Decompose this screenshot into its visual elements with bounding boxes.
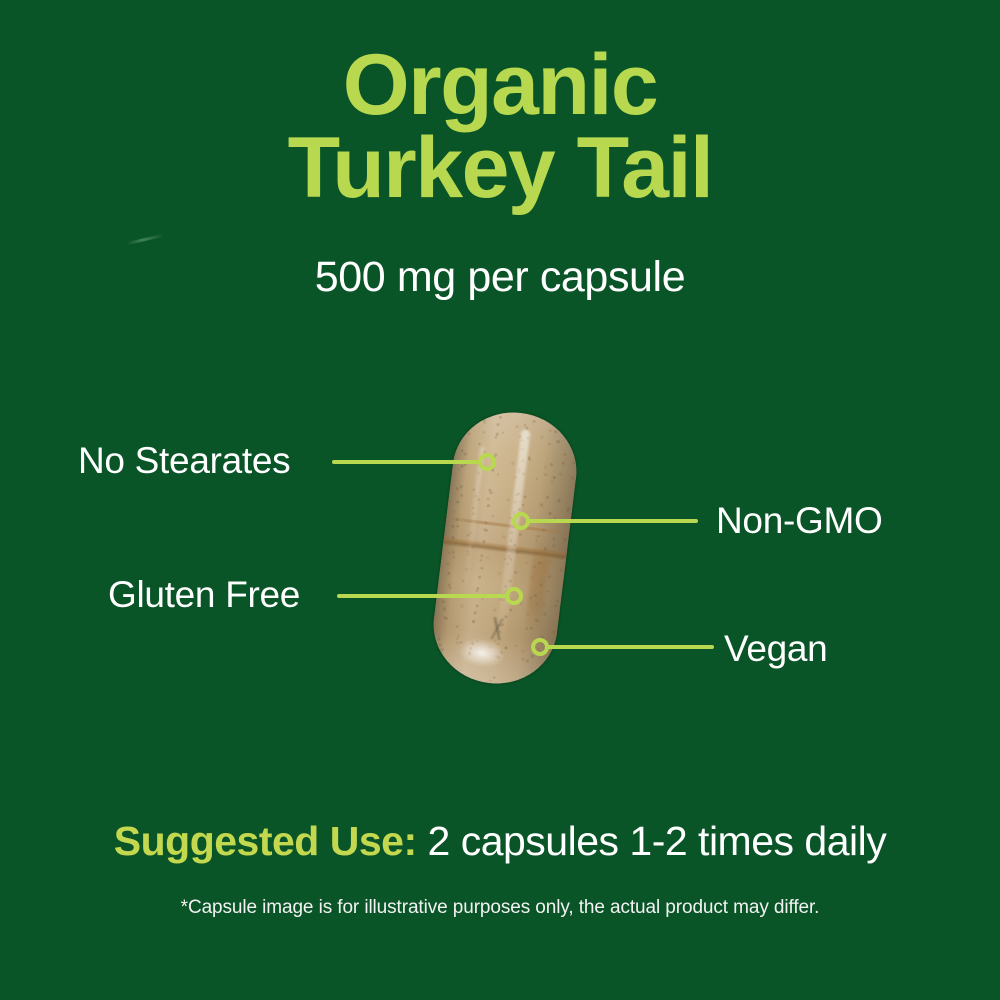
callout-label-vegan: Vegan xyxy=(724,628,827,670)
callout-leader-no-stearates xyxy=(332,460,482,464)
callout-label-non-gmo: Non-GMO xyxy=(716,500,882,542)
disclaimer-text: *Capsule image is for illustrative purpo… xyxy=(0,897,1000,919)
suggested-use-label: Suggested Use: xyxy=(114,818,417,864)
callout-leader-gluten-free xyxy=(337,594,509,598)
product-subtitle: 500 mg per capsule xyxy=(0,253,1000,302)
callout-leader-non-gmo xyxy=(528,519,698,523)
product-title-line-1: Organic xyxy=(0,44,1000,127)
callout-label-no-stearates: No Stearates xyxy=(78,440,290,482)
suggested-use-value: 2 capsules 1-2 times daily xyxy=(417,818,887,864)
callout-leader-vegan xyxy=(547,645,714,649)
image-artifact-streak xyxy=(126,234,164,245)
product-infographic: Organic Turkey Tail 500 mg per capsule N… xyxy=(0,0,1000,1000)
product-title: Organic Turkey Tail xyxy=(0,44,1000,211)
callout-label-gluten-free: Gluten Free xyxy=(108,574,300,616)
product-title-line-2: Turkey Tail xyxy=(0,127,1000,210)
capsule-bottom-highlight xyxy=(458,637,505,668)
callout-dot-gluten-free xyxy=(505,587,523,605)
callout-dot-no-stearates xyxy=(478,453,496,471)
suggested-use-line: Suggested Use: 2 capsules 1-2 times dail… xyxy=(0,818,1000,865)
